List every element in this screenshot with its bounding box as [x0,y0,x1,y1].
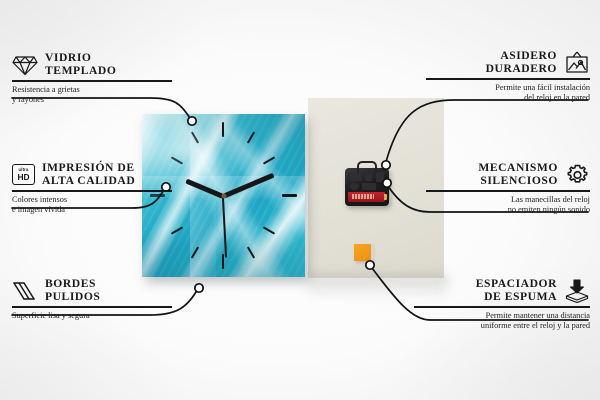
feature-description: Superficie lisa y segura [12,311,172,321]
ultra-hd-icon: ultra HD [12,164,35,185]
feature-title: MECANISMO SILENCIOSO [478,162,558,187]
clock-tick [282,194,297,197]
feature-desc-line1: Permite mantener una distancia [414,311,590,321]
feature-header: ESPACIADOR DE ESPUMA [414,278,590,303]
feature-rule [426,190,590,191]
feature-description: Colores intensos e imagen vívida [12,195,172,214]
feature-bordes-pulidos: BORDES PULIDOS Superficie lisa y segura [12,278,172,321]
feature-asidero-duradero: ASIDERO DURADERO Permite una fácil insta… [426,50,590,102]
mechanism-battery [348,192,385,202]
mechanism-detail [350,183,359,190]
feature-title-line1: ESPACIADOR [476,278,557,291]
feature-title: ESPACIADOR DE ESPUMA [476,278,557,303]
feature-desc-line1: Colores intensos [12,195,172,205]
feature-desc-line1: Superficie lisa y segura [12,311,172,321]
feature-desc-line1: Las manecillas del reloj [426,195,590,205]
mechanism-detail [365,173,372,181]
feature-title: IMPRESIÓN DE ALTA CALIDAD [42,162,135,187]
feature-title-line2: SILENCIOSO [478,175,558,188]
battery-terminal [384,194,387,200]
feature-rule [12,190,172,191]
ultra-hd-icon-bottom: HD [17,173,29,182]
feature-description: Permite mantener una distancia uniforme … [414,311,590,330]
feature-espaciador-de-espuma: ESPACIADOR DE ESPUMA Permite mantener un… [414,278,590,330]
mechanism-detail [376,172,384,182]
feature-title-line2: DE ESPUMA [476,291,557,304]
feature-header: VIDRIO TEMPLADO [12,52,172,77]
feature-description: Resistencia a grietas y rayones [12,85,172,104]
feature-title: VIDRIO TEMPLADO [45,52,116,77]
feature-title-line1: MECANISMO [478,162,558,175]
feature-desc-line1: Resistencia a grietas [12,85,172,95]
foam-spacer-side [371,245,375,262]
feature-desc-line2: e imagen vívida [12,205,172,215]
feature-rule [12,80,172,81]
feature-title: ASIDERO DURADERO [486,50,557,75]
feature-title-line1: IMPRESIÓN DE [42,162,135,175]
feature-impresion-alta-calidad: ultra HD IMPRESIÓN DE ALTA CALIDAD Color… [12,162,172,214]
clock-tick [222,254,224,269]
feature-rule [414,306,590,307]
mechanism-detail [350,173,362,181]
battery-label-stripe [352,194,374,199]
feature-title-line1: ASIDERO [486,50,557,63]
feature-title-line1: BORDES [45,278,100,291]
feature-desc-line2: del reloj en la pared [426,93,590,103]
feature-title: BORDES PULIDOS [45,278,100,303]
feature-mecanismo-silencioso: MECANISMO SILENCIOSO Las manecillas del … [426,162,590,214]
clock-mechanism [345,168,389,206]
infographic-stage: VIDRIO TEMPLADO Resistencia a grietas y … [0,0,600,400]
mechanism-detail [362,183,376,190]
mechanism-hook [357,161,377,173]
feature-description: Las manecillas del reloj no emiten ningú… [426,195,590,214]
feature-desc-line2: uniforme entre el reloj y la pared [414,321,590,331]
feature-title-line1: VIDRIO [45,52,116,65]
feature-title-line2: TEMPLADO [45,65,116,78]
foam-spacer [354,244,371,261]
feature-desc-line2: no emiten ningún sonido [426,205,590,215]
feature-title-line2: DURADERO [486,63,557,76]
feature-vidrio-templado: VIDRIO TEMPLADO Resistencia a grietas y … [12,52,172,104]
hanging-frame-icon [564,51,590,75]
gear-icon [565,163,590,187]
clock-tick [222,122,224,137]
feature-title-line2: ALTA CALIDAD [42,175,135,188]
diamond-icon [12,54,38,76]
feature-desc-line1: Permite una fácil instalación [426,83,590,93]
polished-edges-icon [12,280,38,302]
feature-header: BORDES PULIDOS [12,278,172,303]
feature-header: MECANISMO SILENCIOSO [426,162,590,187]
feature-description: Permite una fácil instalación del reloj … [426,83,590,102]
feature-desc-line2: y rayones [12,95,172,105]
clock-center-hub [221,193,226,198]
foam-spacer-icon [564,279,590,303]
feature-rule [426,78,590,79]
feature-header: ultra HD IMPRESIÓN DE ALTA CALIDAD [12,162,172,187]
feature-title-line2: PULIDOS [45,291,100,304]
feature-header: ASIDERO DURADERO [426,50,590,75]
feature-rule [12,306,172,307]
